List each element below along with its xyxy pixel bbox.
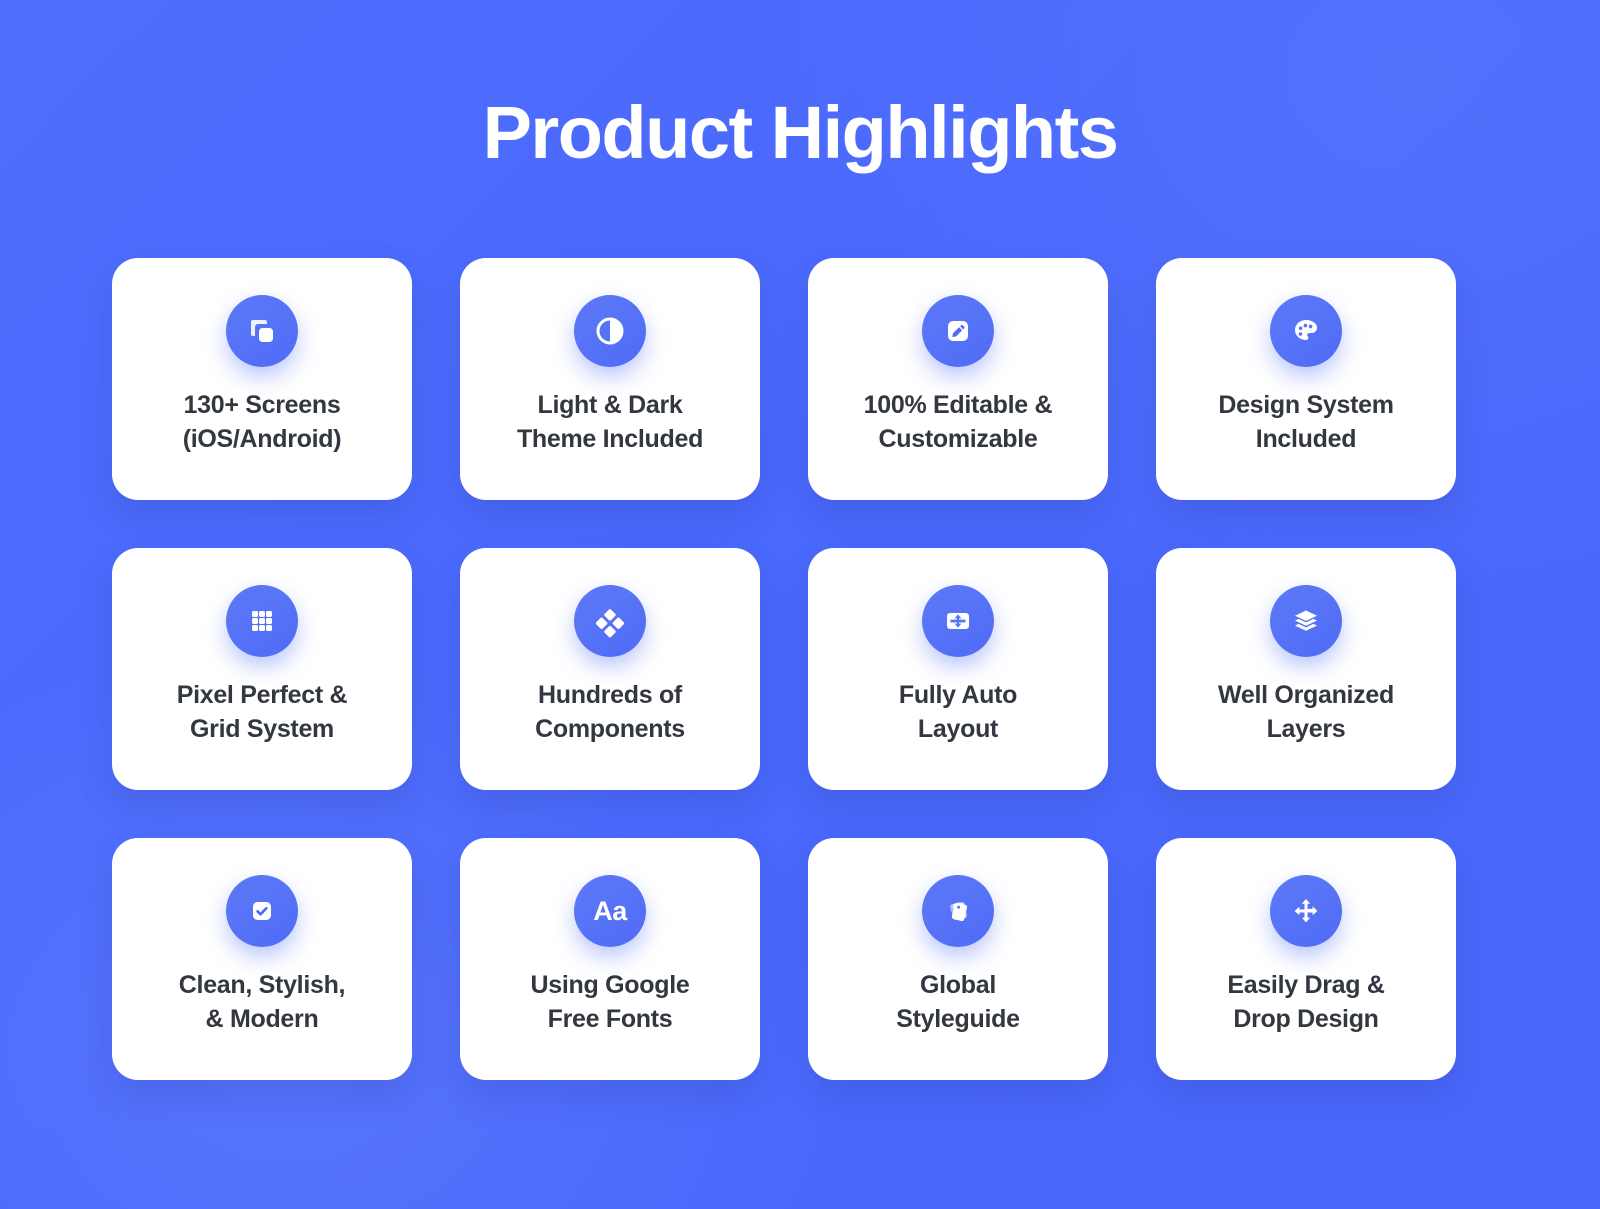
- copy-layers-icon: [226, 295, 298, 367]
- icon-wrap: [226, 585, 298, 657]
- highlight-card-label: Easily Drag & Drop Design: [1215, 969, 1396, 1036]
- grid-3x3-icon: [226, 585, 298, 657]
- icon-wrap: [1270, 295, 1342, 367]
- highlight-card-design-system[interactable]: Design System Included: [1156, 258, 1456, 500]
- highlight-card-label: Fully Auto Layout: [887, 679, 1029, 746]
- move-arrows-icon: [1270, 875, 1342, 947]
- icon-wrap: [574, 585, 646, 657]
- palette-icon: [1270, 295, 1342, 367]
- typography-aa-icon: Aa: [574, 875, 646, 947]
- highlight-card-label: Pixel Perfect & Grid System: [165, 679, 360, 746]
- product-highlights-page: Product Highlights 130+ Screens (iOS/And…: [0, 0, 1600, 1209]
- checkbox-check-icon: [226, 875, 298, 947]
- highlight-card-fonts[interactable]: Aa Using Google Free Fonts: [460, 838, 760, 1080]
- highlight-card-label: Design System Included: [1206, 389, 1405, 456]
- icon-wrap: [1270, 585, 1342, 657]
- highlight-card-grid-system[interactable]: Pixel Perfect & Grid System: [112, 548, 412, 790]
- auto-layout-icon: [922, 585, 994, 657]
- highlight-card-components[interactable]: Hundreds of Components: [460, 548, 760, 790]
- typography-aa-glyph: Aa: [593, 898, 627, 925]
- highlight-card-styleguide[interactable]: Global Styleguide: [808, 838, 1108, 1080]
- highlight-card-label: 130+ Screens (iOS/Android): [171, 389, 354, 456]
- highlight-card-theme[interactable]: Light & Dark Theme Included: [460, 258, 760, 500]
- highlights-grid: 130+ Screens (iOS/Android) Light & Dark …: [112, 258, 1488, 1080]
- highlight-card-auto-layout[interactable]: Fully Auto Layout: [808, 548, 1108, 790]
- highlight-card-label: Well Organized Layers: [1206, 679, 1406, 746]
- page-title: Product Highlights: [0, 96, 1600, 170]
- icon-wrap: [574, 295, 646, 367]
- highlight-card-label: Global Styleguide: [884, 969, 1031, 1036]
- icon-wrap: [922, 875, 994, 947]
- highlight-card-drag-drop[interactable]: Easily Drag & Drop Design: [1156, 838, 1456, 1080]
- contrast-circle-icon: [574, 295, 646, 367]
- highlight-card-modern[interactable]: Clean, Stylish, & Modern: [112, 838, 412, 1080]
- highlight-card-label: Clean, Stylish, & Modern: [167, 969, 357, 1036]
- highlight-card-editable[interactable]: 100% Editable & Customizable: [808, 258, 1108, 500]
- icon-wrap: [226, 875, 298, 947]
- color-swatches-icon: [922, 875, 994, 947]
- icon-wrap: [922, 295, 994, 367]
- highlight-card-label: Light & Dark Theme Included: [505, 389, 715, 456]
- pencil-edit-icon: [922, 295, 994, 367]
- icon-wrap: [226, 295, 298, 367]
- highlight-card-layers[interactable]: Well Organized Layers: [1156, 548, 1456, 790]
- stacked-layers-icon: [1270, 585, 1342, 657]
- icon-wrap: Aa: [574, 875, 646, 947]
- icon-wrap: [1270, 875, 1342, 947]
- icon-wrap: [922, 585, 994, 657]
- highlight-card-label: 100% Editable & Customizable: [852, 389, 1065, 456]
- highlight-card-screens[interactable]: 130+ Screens (iOS/Android): [112, 258, 412, 500]
- highlight-card-label: Using Google Free Fonts: [519, 969, 702, 1036]
- highlight-card-label: Hundreds of Components: [523, 679, 697, 746]
- four-diamonds-icon: [574, 585, 646, 657]
